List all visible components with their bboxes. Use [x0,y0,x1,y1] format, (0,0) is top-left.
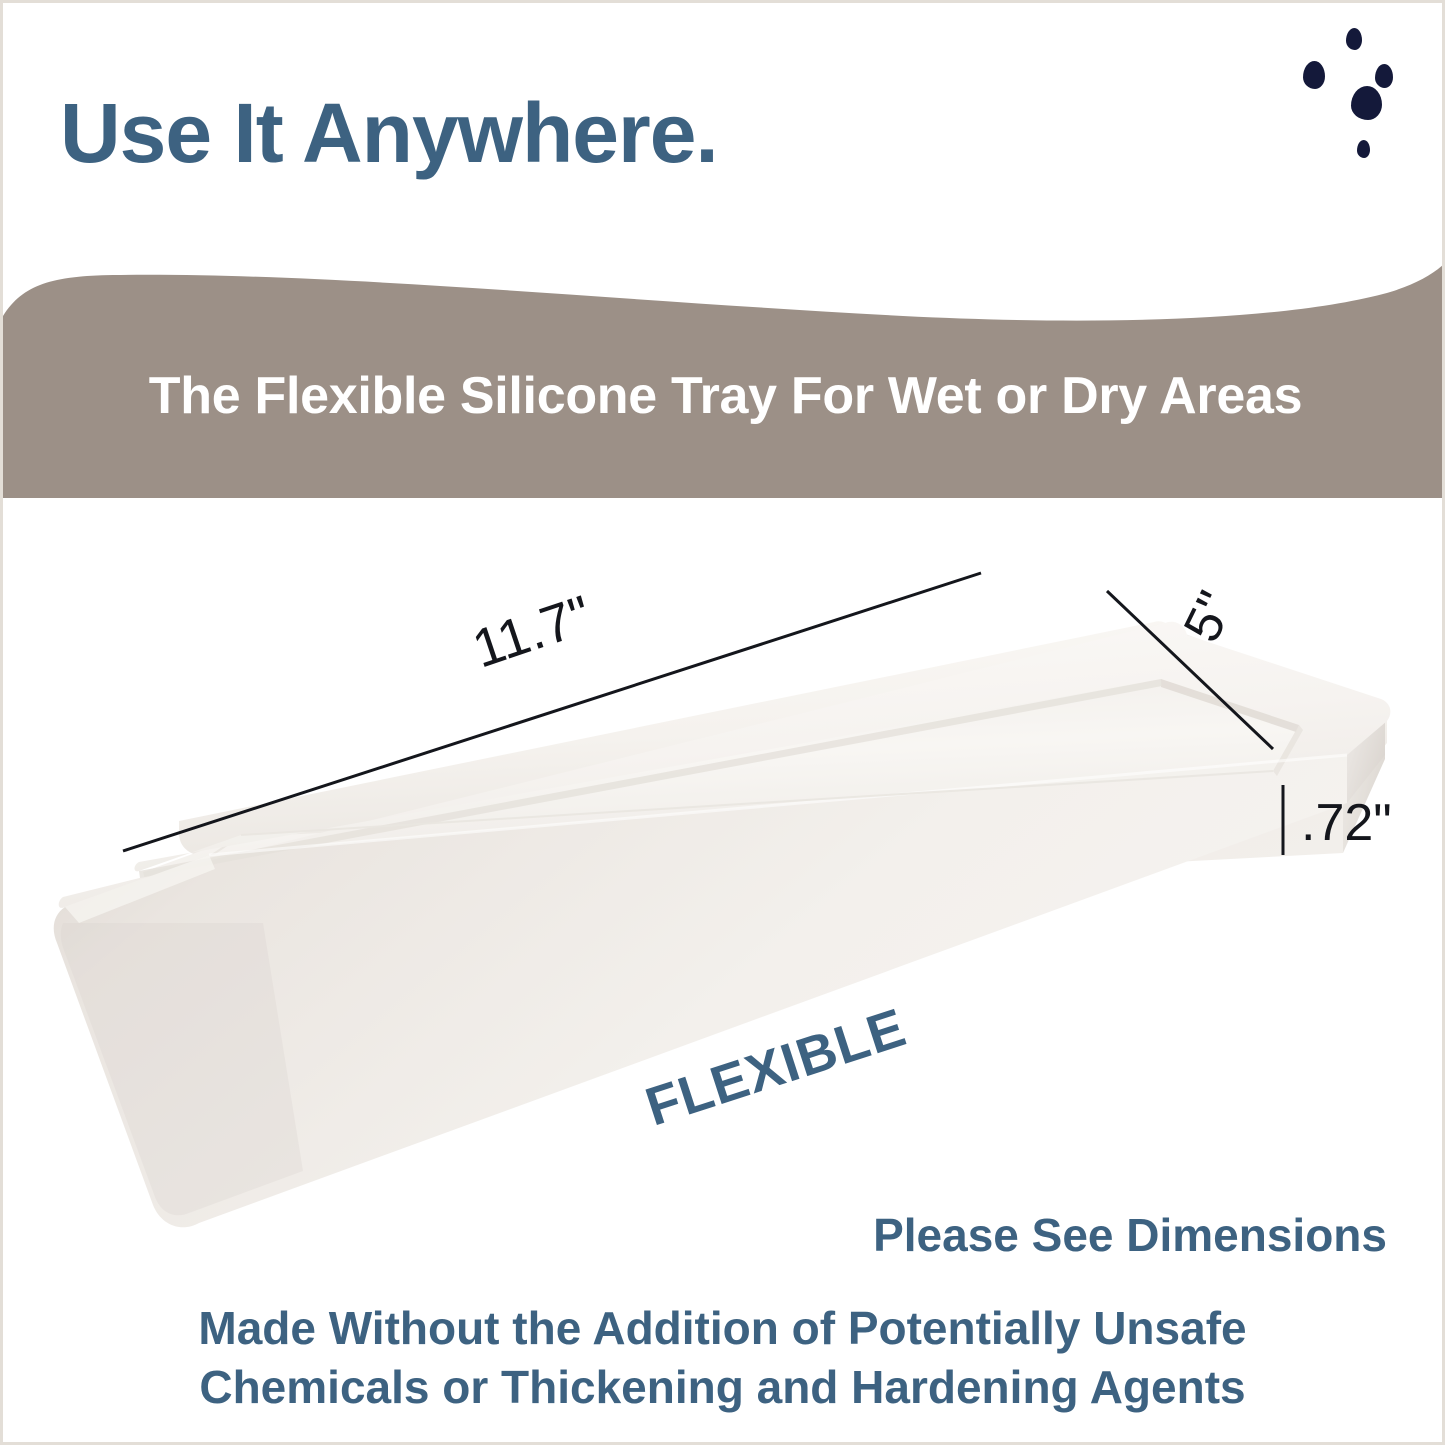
water-droplet-icon [1375,64,1393,88]
safety-claim-line-2: Chemicals or Thickening and Hardening Ag… [3,1358,1442,1417]
see-dimensions-text: Please See Dimensions [873,1208,1387,1262]
page-title: Use It Anywhere. [60,91,718,175]
product-infographic: Use It Anywhere. The Flexible Silicone T… [0,0,1445,1445]
water-droplet-icon [1357,140,1370,158]
subtitle-banner-shape [3,258,1445,498]
safety-claim-line-1: Made Without the Addition of Potentially… [3,1299,1442,1358]
water-droplet-icon [1351,86,1382,120]
water-droplet-icon [1303,61,1325,89]
water-droplet-icon [1346,28,1362,50]
safety-claim: Made Without the Addition of Potentially… [3,1299,1442,1417]
water-droplets-decoration [1303,28,1433,173]
dimension-label-height: .72" [1301,793,1392,853]
